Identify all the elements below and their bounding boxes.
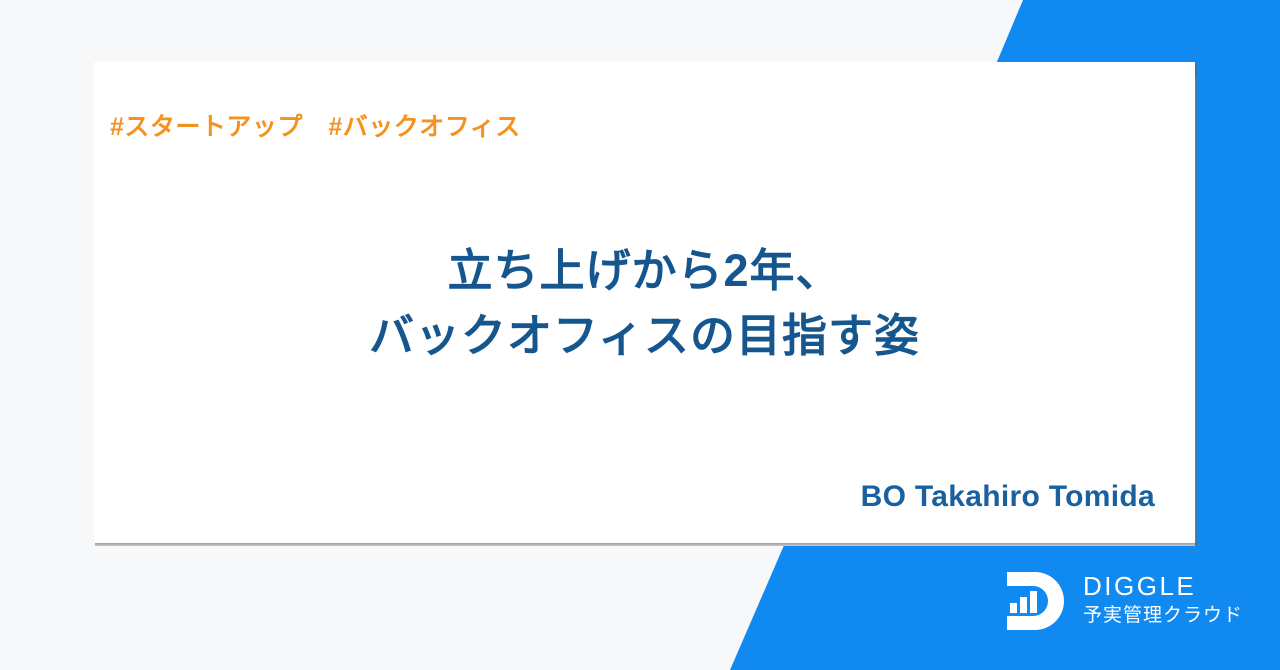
slide-title-line-2: バックオフィスの目指す姿 xyxy=(94,303,1195,368)
diggle-wordmark: DIGGLE xyxy=(1083,573,1243,600)
diggle-logo: DIGGLE 予実管理クラウド xyxy=(1003,570,1243,632)
author-name: BO Takahiro Tomida xyxy=(0,480,1155,514)
slide-title: 立ち上げから2年、 バックオフィスの目指す姿 xyxy=(94,238,1195,369)
diggle-d-bar-chart-icon xyxy=(1003,570,1069,632)
hashtag-line: #スタートアップ #バックオフィス xyxy=(110,107,521,143)
diggle-tagline: 予実管理クラウド xyxy=(1083,603,1243,629)
card-bottom-shadow xyxy=(95,543,1196,546)
diggle-logo-text: DIGGLE 予実管理クラウド xyxy=(1083,573,1243,629)
presentation-slide: #スタートアップ #バックオフィス 立ち上げから2年、 バックオフィスの目指す姿… xyxy=(0,0,1280,670)
slide-title-line-1: 立ち上げから2年、 xyxy=(94,238,1195,303)
card-right-shadow xyxy=(1195,64,1198,546)
